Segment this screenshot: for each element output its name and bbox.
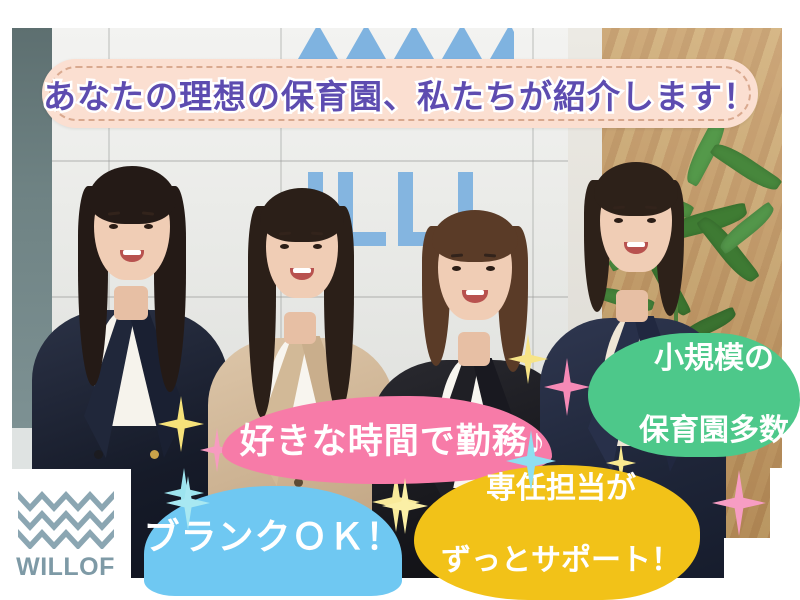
bubble-yellow-line1: 専任担当が: [441, 471, 681, 507]
eye: [647, 218, 656, 223]
headline-banner: あなたの理想の保育園、私たちが紹介します！: [42, 59, 758, 128]
willof-wordmark: WILLOF: [16, 553, 115, 582]
bubble-green-line1: 小規模の: [639, 341, 789, 377]
jacket-button: [150, 450, 159, 459]
eye: [452, 266, 461, 271]
bubble-dedicated-support[interactable]: 専任担当が ずっとサポート！: [414, 465, 700, 600]
willof-zigzag-logo: [18, 487, 114, 549]
bubble-blue-text: ブランクＯＫ！: [144, 515, 403, 558]
headline-text: あなたの理想の保育園、私たちが紹介します！: [42, 59, 758, 128]
promo-banner-image: WILL: [0, 0, 800, 600]
hair-top: [88, 166, 176, 224]
eye: [313, 244, 322, 249]
neck: [616, 290, 648, 322]
bubble-yellow-line2: ずっとサポート！: [441, 543, 681, 579]
hair-top: [432, 210, 518, 262]
bubble-green-line2: 保育園多数: [639, 413, 789, 449]
willof-logo-card[interactable]: WILLOF: [0, 469, 131, 600]
jacket-button: [94, 450, 103, 459]
neck: [458, 332, 490, 366]
eye: [614, 218, 623, 223]
hair-top: [260, 188, 344, 242]
bubble-small-nurseries[interactable]: 小規模の 保育園多数: [588, 333, 800, 457]
photo-corner-white: [724, 538, 782, 578]
eye: [109, 224, 118, 229]
eye: [280, 244, 289, 249]
eye: [486, 266, 495, 271]
neck: [284, 312, 316, 344]
eye: [144, 224, 153, 229]
bubble-pink-text: 好きな時間で勤務♪: [240, 421, 547, 463]
neck: [114, 286, 148, 320]
hair-top: [594, 162, 678, 216]
